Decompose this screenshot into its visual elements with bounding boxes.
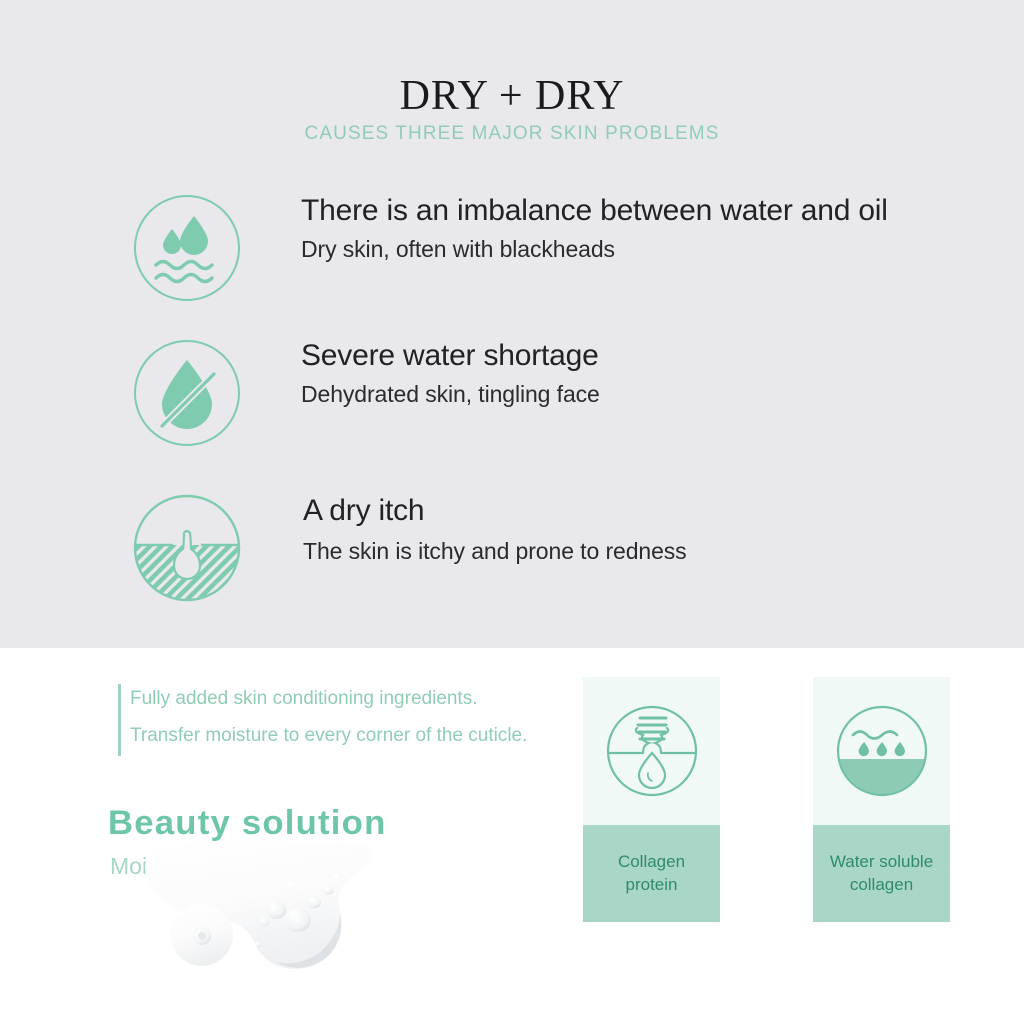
problem-subtitle-0: Dry skin, often with blackheads: [301, 235, 1013, 265]
problem-text-2: A dry itch The skin is itchy and prone t…: [303, 493, 1015, 567]
ingredient-label-1-line1: Water soluble: [830, 852, 933, 871]
infographic-page: DRY + DRY CAUSES THREE MAJOR SKIN PROBLE…: [0, 0, 1024, 1024]
ingredient-label-0: Collagen protein: [612, 851, 691, 897]
problem-subtitle-2: The skin is itchy and prone to redness: [303, 537, 1015, 567]
problem-item-1: Severe water shortage Dehydrated skin, t…: [0, 338, 1024, 458]
ingredient-label-1: Water soluble collagen: [824, 851, 939, 897]
ingredient-card-water-soluble-collagen[interactable]: Water soluble collagen: [813, 677, 950, 922]
problem-item-0: There is an imbalance between water and …: [0, 193, 1024, 313]
problem-text-1: Severe water shortage Dehydrated skin, t…: [301, 338, 1013, 410]
ingredient-label-0-line1: Collagen: [618, 852, 685, 871]
solution-section: Fully added skin conditioning ingredient…: [0, 648, 1024, 1024]
ingredient-label-panel-1: Water soluble collagen: [813, 825, 950, 922]
water-drops-waves-icon: [132, 193, 242, 303]
problem-title-0: There is an imbalance between water and …: [301, 193, 1013, 228]
problem-title-2: A dry itch: [303, 493, 1015, 528]
page-subtitle: CAUSES THREE MAJOR SKIN PROBLEMS: [0, 123, 1024, 145]
solution-line-0: Fully added skin conditioning ingredient…: [130, 680, 600, 717]
problem-item-2: A dry itch The skin is itchy and prone t…: [0, 493, 1024, 613]
ingredient-label-panel-0: Collagen protein: [583, 825, 720, 922]
accent-bar: [118, 684, 121, 756]
brand-title: Beauty solution: [108, 804, 386, 843]
ingredient-label-0-line2: protein: [626, 875, 678, 894]
problem-title-1: Severe water shortage: [301, 338, 1013, 373]
water-waves-drops-fill-icon: [813, 677, 950, 825]
cream-splash-image: [140, 824, 410, 984]
page-title: DRY + DRY: [0, 74, 1024, 118]
no-water-drop-icon: [132, 338, 242, 448]
solution-line-1: Transfer moisture to every corner of the…: [130, 717, 600, 754]
dry-pore-hatched-icon: [132, 493, 242, 603]
brand-subtitle: Moist with moisture: [110, 853, 307, 880]
problem-subtitle-1: Dehydrated skin, tingling face: [301, 380, 1013, 410]
problems-section: DRY + DRY CAUSES THREE MAJOR SKIN PROBLE…: [0, 0, 1024, 648]
collagen-coil-drop-icon: [583, 677, 720, 825]
ingredient-card-collagen-protein[interactable]: Collagen protein: [583, 677, 720, 922]
solution-copy: Fully added skin conditioning ingredient…: [130, 680, 600, 754]
ingredient-label-1-line2: collagen: [850, 875, 913, 894]
problem-text-0: There is an imbalance between water and …: [301, 193, 1013, 265]
